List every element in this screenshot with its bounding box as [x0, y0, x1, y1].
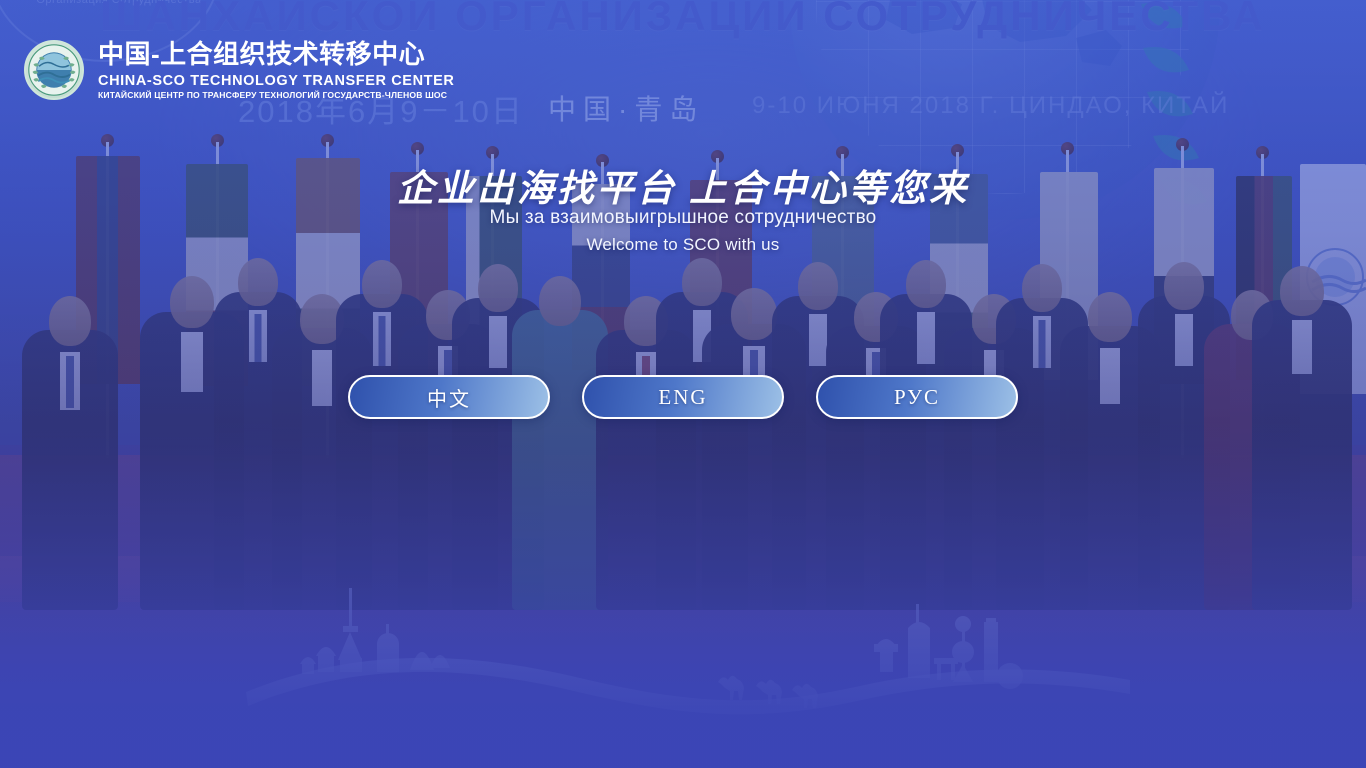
hero-subtitle-russian: Мы за взаимовыигрышное сотрудничество [0, 207, 1366, 229]
hero-headline: 企业出海找平台 上合中心等您来 [0, 158, 1366, 212]
language-selector: 中文 ENG РУС [0, 375, 1366, 419]
brand-logo[interactable]: 中国-上合组织技术转移中心 CHINA-SCO TECHNOLOGY TRANS… [24, 40, 454, 100]
brand-name-russian: КИТАЙСКИЙ ЦЕНТР ПО ТРАНСФЕРУ ТЕХНОЛОГИЙ … [98, 91, 454, 100]
language-button-russian[interactable]: РУС [816, 375, 1018, 419]
landing-page: Организация Сотрудничества ШАНХАЙСКОЙ ОР… [0, 0, 1366, 768]
brand-name-english: CHINA-SCO TECHNOLOGY TRANSFER CENTER [98, 74, 454, 89]
sco-ttc-globe-emblem-icon [24, 40, 84, 100]
language-button-english[interactable]: ENG [582, 375, 784, 419]
brand-name-chinese: 中国-上合组织技术转移中心 [98, 40, 454, 70]
language-button-chinese[interactable]: 中文 [348, 375, 550, 419]
hero-subtitle-english: Welcome to SCO with us [0, 235, 1366, 255]
